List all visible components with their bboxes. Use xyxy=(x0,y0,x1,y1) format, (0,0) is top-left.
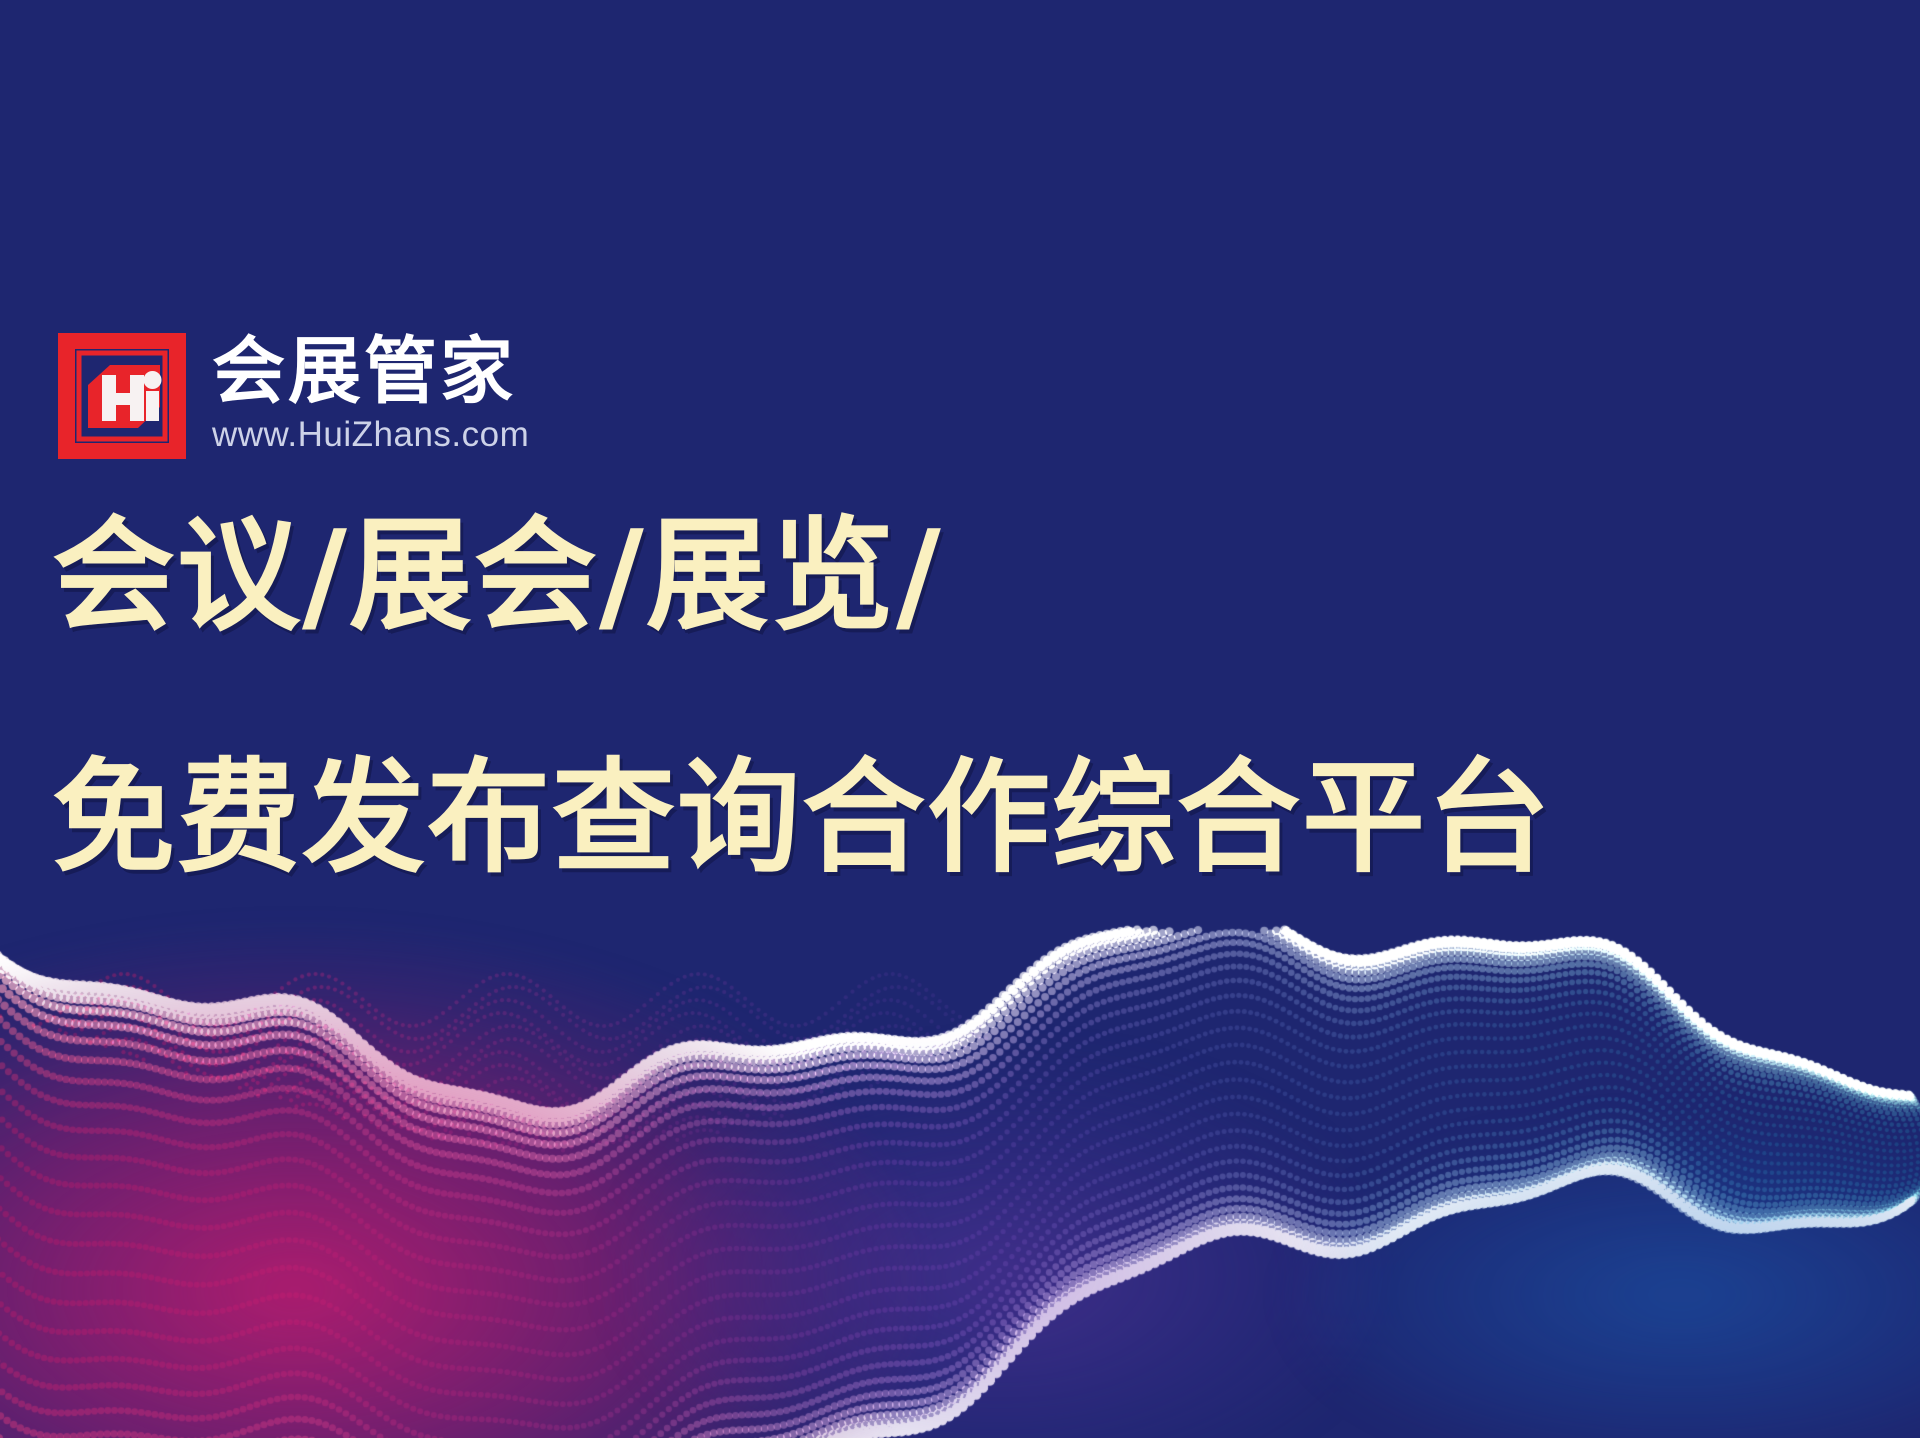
brand-text-block: 会展管家 www.HuiZhans.com xyxy=(212,333,529,452)
headline-line-2: 免费发布查询合作综合平台 xyxy=(52,757,1862,880)
glow-pink xyxy=(0,940,920,1438)
huizhans-logo-icon[interactable] xyxy=(58,333,186,459)
logo-lockup[interactable]: 会展管家 www.HuiZhans.com xyxy=(58,333,529,459)
glow-cyan xyxy=(1300,1130,1920,1438)
brand-url[interactable]: www.HuiZhans.com xyxy=(212,417,529,452)
headline-block: 会议/展会/展览/ 免费发布查询合作综合平台 xyxy=(52,515,1862,880)
glow-violet xyxy=(620,1060,1380,1438)
brand-name: 会展管家 xyxy=(212,335,529,408)
banner-root: 会展管家 www.HuiZhans.com 会议/展会/展览/ 免费发布查询合作… xyxy=(0,0,1920,1438)
headline-line-1: 会议/展会/展览/ xyxy=(52,515,1862,638)
